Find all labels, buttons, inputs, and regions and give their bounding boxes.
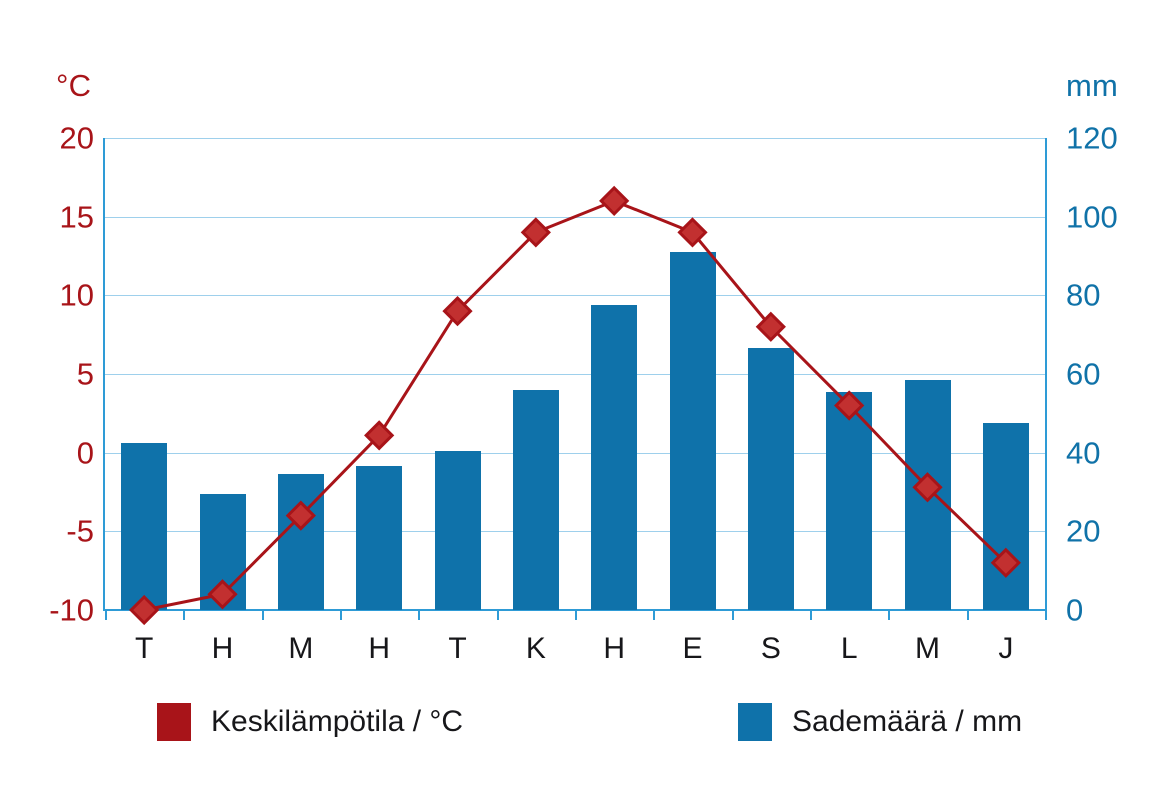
temperature-polyline (144, 201, 1006, 610)
right-axis-unit-label: mm (1066, 68, 1118, 104)
category-label-6: H (603, 632, 625, 666)
x-axis-tickmark (810, 610, 812, 620)
x-axis-tickmark (732, 610, 734, 620)
legend-swatch-precipitation (738, 703, 772, 741)
line-series-temperature (105, 138, 1045, 610)
x-axis-tickmark (1045, 610, 1047, 620)
category-label-4: T (448, 632, 466, 666)
x-axis-tickmark (262, 610, 264, 620)
right-axis-tick-label: 80 (1066, 280, 1100, 311)
legend-swatch-temperature (157, 703, 191, 741)
legend-item-temperature[interactable]: Keskilämpötila / °C (157, 700, 463, 744)
left-axis-unit-label: °C (56, 68, 91, 104)
category-label-11: J (998, 632, 1013, 666)
legend-label-precipitation: Sademäärä / mm (792, 705, 1022, 739)
x-axis-tickmark (497, 610, 499, 620)
right-axis-tick-label: 60 (1066, 359, 1100, 390)
category-label-3: H (368, 632, 390, 666)
right-axis-tick-label: 40 (1066, 437, 1100, 468)
category-label-7: E (682, 632, 702, 666)
left-axis-tick-label: 20 (60, 123, 94, 154)
left-axis-tick-label: -10 (49, 595, 94, 626)
category-label-8: S (761, 632, 781, 666)
category-label-2: M (288, 632, 313, 666)
right-axis-tick-label: 120 (1066, 123, 1118, 154)
right-axis-tick-label: 20 (1066, 516, 1100, 547)
x-axis-tickmark (183, 610, 185, 620)
x-axis-tickmark (418, 610, 420, 620)
right-axis-tick-label: 100 (1066, 201, 1118, 232)
left-axis-tick-label: 0 (77, 437, 94, 468)
x-axis-tickmark (653, 610, 655, 620)
legend-label-temperature: Keskilämpötila / °C (211, 705, 463, 739)
plot-area (105, 138, 1045, 610)
temperature-marker-0[interactable] (131, 597, 157, 623)
category-label-0: T (135, 632, 153, 666)
legend-item-precipitation[interactable]: Sademäärä / mm (738, 700, 1022, 744)
x-axis-tickmark (340, 610, 342, 620)
category-label-1: H (212, 632, 234, 666)
category-label-9: L (841, 632, 858, 666)
x-axis-tickmark (888, 610, 890, 620)
x-axis-tickmark (575, 610, 577, 620)
category-label-10: M (915, 632, 940, 666)
chart-legend: Keskilämpötila / °C Sademäärä / mm (0, 700, 1157, 750)
category-label-5: K (526, 632, 546, 666)
left-axis-tick-label: 10 (60, 280, 94, 311)
left-axis-tick-label: 15 (60, 201, 94, 232)
left-axis-tick-label: 5 (77, 359, 94, 390)
x-axis-tickmark (967, 610, 969, 620)
x-axis-tickmark (105, 610, 107, 620)
temperature-marker-6[interactable] (601, 188, 627, 214)
climate-chart: °C mm 20151050-5-10 120100806040200 THMH… (0, 0, 1157, 800)
temperature-markers (131, 188, 1019, 623)
right-axis-line (1045, 138, 1047, 610)
left-axis-tick-label: -5 (66, 516, 94, 547)
right-axis-tick-label: 0 (1066, 595, 1083, 626)
